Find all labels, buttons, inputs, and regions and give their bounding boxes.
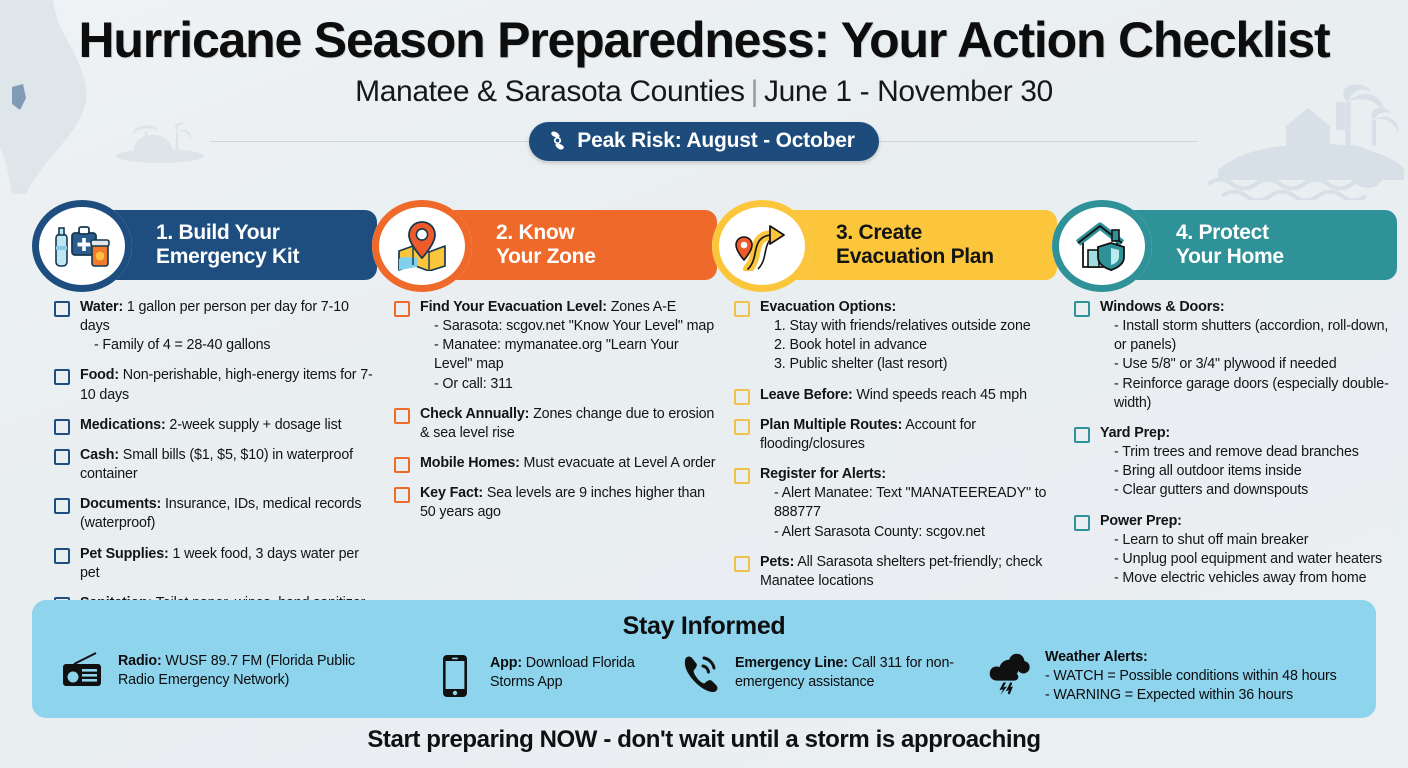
item-text: Weather Alerts: - WATCH = Possible condi… [1045,648,1337,705]
item-body: Non-perishable, high-energy items for 7-… [80,367,373,402]
item-label: Evacuation Options: [760,299,896,315]
item-text: Medications: 2-week supply + dosage list [80,416,341,435]
item-sub: - Family of 4 = 28-40 gallons [80,336,377,355]
stay-informed-item: Emergency Line: Call 311 for non-emergen… [677,654,977,694]
item-label: Food: [80,367,119,383]
column-header: 3. Create Evacuation Plan [712,200,1057,292]
item-sub: 1. Stay with friends/relatives outside z… [760,317,1031,336]
phone-ringing-icon [677,654,723,694]
checklist-items: Water: 1 gallon per person per day for 7… [32,298,377,632]
stay-informed-items: Radio: WUSF 89.7 FM (Florida Public Radi… [32,644,1376,714]
item-sub: - Install storm shutters (accordion, rol… [1100,317,1397,355]
item-sub: - Use 5/8" or 3/4" plywood if needed [1100,355,1397,374]
column-protect-your-home: 4. Protect Your Home [1052,200,1397,599]
item-label: Weather Alerts: [1045,649,1148,665]
column-header: 1. Build Your Emergency Kit [32,200,377,292]
checklist-item[interactable]: Pet Supplies: 1 week food, 3 days water … [54,545,377,583]
stay-informed-item: App: Download Florida Storms App [432,654,682,698]
checklist-item[interactable]: Cash: Small bills ($1, $5, $10) in water… [54,446,377,484]
item-body: Must evacuate at Level A order [520,455,716,471]
item-text: Key Fact: Sea levels are 9 inches higher… [420,484,717,522]
item-text: Mobile Homes: Must evacuate at Level A o… [420,454,715,473]
checkbox[interactable] [734,556,750,572]
item-label: Power Prep: [1100,513,1182,529]
column-title-line2: Emergency Kit [156,245,299,268]
item-body: Zones A-E [607,299,676,315]
item-text: Water: 1 gallon per person per day for 7… [80,298,377,355]
checklist-items: Windows & Doors: - Install storm shutter… [1052,298,1397,588]
item-text: Windows & Doors: - Install storm shutter… [1100,298,1397,413]
checkbox[interactable] [1074,301,1090,317]
checkbox[interactable] [54,369,70,385]
checkbox[interactable] [54,449,70,465]
item-text: Food: Non-perishable, high-energy items … [80,366,377,404]
checkbox[interactable] [1074,427,1090,443]
checklist-item[interactable]: Yard Prep: - Trim trees and remove dead … [1074,424,1397,501]
column-title-line2: Your Zone [496,245,596,268]
item-label: Pets: [760,554,794,570]
item-label: Cash: [80,447,119,463]
stay-informed-item: Weather Alerts: - WATCH = Possible condi… [987,648,1367,705]
column-title-line1: 1. Build Your [156,221,280,244]
item-sub: - Sarasota: scgov.net "Know Your Level" … [420,317,717,336]
checklist-item[interactable]: Mobile Homes: Must evacuate at Level A o… [394,454,717,473]
checkbox[interactable] [54,498,70,514]
column-know-your-zone: 2. Know Your Zone [372,200,717,534]
column-title-line2: Evacuation Plan [836,245,994,268]
column-icon-badge [1052,200,1152,292]
map-pin-icon [395,221,449,271]
column-build-emergency-kit: 1. Build Your Emergency Kit [32,200,377,643]
checklist-item[interactable]: Plan Multiple Routes: Account for floodi… [734,416,1057,454]
item-text: Power Prep: - Learn to shut off main bre… [1100,512,1382,589]
checkbox[interactable] [394,487,410,503]
item-sub: - Bring all outdoor items inside [1100,462,1359,481]
peak-risk-label: Peak Risk: August - October [577,129,854,153]
checklist-item[interactable]: Evacuation Options: 1. Stay with friends… [734,298,1057,375]
column-title-line1: 4. Protect [1176,221,1269,244]
item-label: Check Annually: [420,406,529,422]
item-sub: 2. Book hotel in advance [760,336,1031,355]
item-label: Radio: [118,653,162,669]
checklist-item[interactable]: Power Prep: - Learn to shut off main bre… [1074,512,1397,589]
checkbox[interactable] [54,301,70,317]
checkbox[interactable] [394,408,410,424]
checklist-item[interactable]: Key Fact: Sea levels are 9 inches higher… [394,484,717,522]
item-label: Windows & Doors: [1100,299,1225,315]
item-text: Pet Supplies: 1 week food, 3 days water … [80,545,377,583]
item-label: Mobile Homes: [420,455,520,471]
item-sub: - Learn to shut off main breaker [1100,531,1382,550]
item-label: Register for Alerts: [760,466,886,482]
item-text: Plan Multiple Routes: Account for floodi… [760,416,1057,454]
evacuation-route-icon [734,221,790,271]
emergency-kit-icon [54,222,110,270]
checklist-item[interactable]: Medications: 2-week supply + dosage list [54,416,377,435]
checkbox[interactable] [734,419,750,435]
checklist-item[interactable]: Check Annually: Zones change due to eros… [394,405,717,443]
column-header: 4. Protect Your Home [1052,200,1397,292]
item-label: Pet Supplies: [80,546,169,562]
column-title-line1: 2. Know [496,221,574,244]
checkbox[interactable] [54,548,70,564]
item-sub: - Reinforce garage doors (especially dou… [1100,375,1397,413]
checklist-item[interactable]: Register for Alerts: - Alert Manatee: Te… [734,465,1057,542]
item-text: Leave Before: Wind speeds reach 45 mph [760,386,1027,405]
peak-risk-badge: Peak Risk: August - October [529,122,878,161]
stay-informed-title: Stay Informed [32,612,1376,641]
stay-informed-item: Radio: WUSF 89.7 FM (Florida Public Radi… [60,652,390,690]
item-label: Plan Multiple Routes: [760,417,902,433]
stay-informed-panel: Stay Informed Radio: WUSF 89.7 FM (Flori… [32,600,1376,718]
item-label: Yard Prep: [1100,425,1170,441]
item-text: Find Your Evacuation Level: Zones A-E - … [420,298,717,394]
item-sub: - Alert Manatee: Text "MANATEEREADY" to … [760,484,1057,522]
column-title-line1: 3. Create [836,221,922,244]
checklist-item[interactable]: Find Your Evacuation Level: Zones A-E - … [394,298,717,394]
checklist-items: Evacuation Options: 1. Stay with friends… [712,298,1057,591]
item-sub: - Alert Sarasota County: scgov.net [760,523,1057,542]
radio-icon [60,652,106,688]
house-shield-icon [1074,221,1130,271]
checkbox[interactable] [734,468,750,484]
checkbox[interactable] [734,301,750,317]
item-label: Key Fact: [420,485,483,501]
checklist-item[interactable]: Water: 1 gallon per person per day for 7… [54,298,377,355]
item-label: Emergency Line: [735,655,848,671]
checkbox[interactable] [734,389,750,405]
item-label: Medications: [80,417,166,433]
checkbox[interactable] [394,301,410,317]
item-body: Small bills ($1, $5, $10) in waterproof … [80,447,353,482]
item-text: Emergency Line: Call 311 for non-emergen… [735,654,977,692]
hurricane-icon [547,130,568,151]
item-body: All Sarasota shelters pet-friendly; chec… [760,554,1042,589]
column-icon-badge [372,200,472,292]
checkbox[interactable] [54,419,70,435]
checklist-item[interactable]: Leave Before: Wind speeds reach 45 mph [734,386,1057,405]
item-sub: - Trim trees and remove dead branches [1100,443,1359,462]
checklist-items: Find Your Evacuation Level: Zones A-E - … [372,298,717,523]
item-text: Yard Prep: - Trim trees and remove dead … [1100,424,1359,501]
checkbox[interactable] [394,457,410,473]
item-sub: - WARNING = Expected within 36 hours [1045,686,1337,705]
peak-risk-row: Peak Risk: August - October [0,121,1408,161]
subtitle: Manatee & Sarasota Counties|June 1 - Nov… [0,75,1408,109]
infographic-page: Hurricane Season Preparedness: Your Acti… [0,0,1408,768]
column-header: 2. Know Your Zone [372,200,717,292]
item-sub: - Move electric vehicles away from home [1100,569,1382,588]
item-text: Register for Alerts: - Alert Manatee: Te… [760,465,1057,542]
subtitle-counties: Manatee & Sarasota Counties [355,75,744,108]
column-create-evacuation-plan: 3. Create Evacuation Plan [712,200,1057,602]
checklist-item[interactable]: Windows & Doors: - Install storm shutter… [1074,298,1397,413]
item-text: Pets: All Sarasota shelters pet-friendly… [760,553,1057,591]
item-body: 2-week supply + dosage list [166,417,342,433]
item-sub: - WATCH = Possible conditions within 48 … [1045,667,1337,686]
mobile-phone-icon [432,654,478,698]
item-label: Find Your Evacuation Level: [420,299,607,315]
storm-cloud-icon [987,648,1033,696]
item-text: Documents: Insurance, IDs, medical recor… [80,495,377,533]
checklist-item[interactable]: Pets: All Sarasota shelters pet-friendly… [734,553,1057,591]
item-sub: - Or call: 311 [420,375,717,394]
item-label: Leave Before: [760,387,853,403]
checklist-columns: 1. Build Your Emergency Kit [0,200,1408,600]
column-title-line2: Your Home [1176,245,1284,268]
item-sub: - Clear gutters and downspouts [1100,481,1359,500]
checklist-item[interactable]: Food: Non-perishable, high-energy items … [54,366,377,404]
subtitle-separator: | [745,75,764,108]
checkbox[interactable] [1074,515,1090,531]
item-text: Cash: Small bills ($1, $5, $10) in water… [80,446,377,484]
item-sub: 3. Public shelter (last resort) [760,355,1031,374]
subtitle-dates: June 1 - November 30 [764,75,1053,108]
page-title: Hurricane Season Preparedness: Your Acti… [0,14,1408,67]
column-icon-badge [32,200,132,292]
item-text: App: Download Florida Storms App [490,654,682,692]
item-body: Wind speeds reach 45 mph [853,387,1027,403]
column-icon-badge [712,200,812,292]
footer-callout: Start preparing NOW - don't wait until a… [0,726,1408,754]
item-label: Water: [80,299,123,315]
item-sub: - Manatee: mymanatee.org "Learn Your Lev… [420,336,717,374]
item-label: App: [490,655,522,671]
item-text: Evacuation Options: 1. Stay with friends… [760,298,1031,375]
item-label: Documents: [80,496,161,512]
item-text: Radio: WUSF 89.7 FM (Florida Public Radi… [118,652,390,690]
checklist-item[interactable]: Documents: Insurance, IDs, medical recor… [54,495,377,533]
item-text: Check Annually: Zones change due to eros… [420,405,717,443]
item-sub: - Unplug pool equipment and water heater… [1100,550,1382,569]
header: Hurricane Season Preparedness: Your Acti… [0,14,1408,161]
